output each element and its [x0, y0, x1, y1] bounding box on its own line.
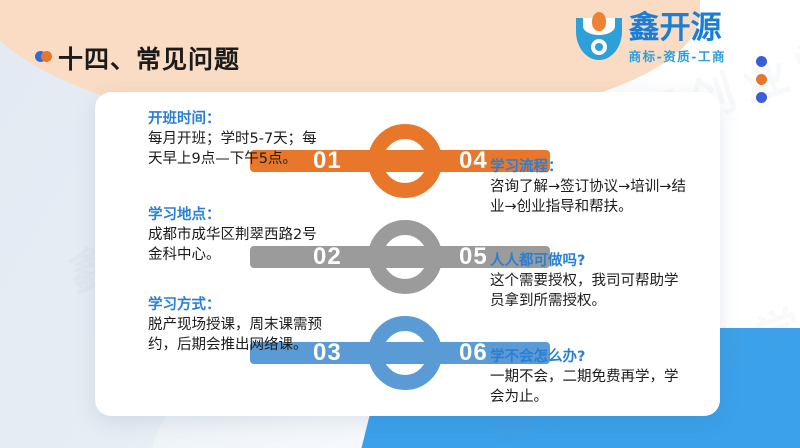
faq-body: 脱产现场授课，周末课需预约，后期会推出网络课。: [148, 316, 338, 355]
brand-logo: 鑫开源 商标-资质-工商: [576, 12, 726, 65]
faq-item-03: 学习方式： 脱产现场授课，周末课需预约，后期会推出网络课。: [148, 296, 338, 355]
logo-mark-icon: [576, 12, 622, 60]
logo-drop-shape-icon: [592, 12, 606, 31]
side-dot-1-icon: [756, 56, 767, 67]
faq-body: 咨询了解→签订协议→培训→结业→创业指导和帮扶。: [490, 178, 690, 217]
bullet-orange-dot-icon: [41, 51, 52, 62]
faq-body: 每月开班；学时5-7天；每天早上9点—下午5点。: [148, 130, 328, 169]
faq-item-06: 学不会怎么办? 一期不会，二期免费再学，学会为止。: [490, 348, 690, 407]
side-dot-3-icon: [756, 92, 767, 103]
title-bullet-icon: [35, 51, 53, 62]
faq-heading: 学习流程：: [490, 158, 690, 177]
logo-text-group: 鑫开源 商标-资质-工商: [629, 12, 726, 65]
slide-header: 十四、常见问题 鑫开源 商标-资质-工商: [0, 0, 800, 92]
logo-tagline: 商标-资质-工商: [629, 46, 726, 65]
faq-body: 一期不会，二期免费再学，学会为止。: [490, 368, 690, 407]
faq-body: 这个需要授权，我司可帮助学员拿到所需授权。: [490, 272, 690, 311]
faq-item-02: 学习地点： 成都市成华区荆翠西路2号金科中心。: [148, 206, 323, 265]
logo-ring-shape-icon: [591, 39, 607, 55]
faq-heading: 开班时间：: [148, 110, 328, 129]
faq-item-01: 开班时间： 每月开班；学时5-7天；每天早上9点—下午5点。: [148, 110, 328, 169]
faq-item-04: 学习流程： 咨询了解→签订协议→培训→结业→创业指导和帮扶。: [490, 158, 690, 217]
faq-body: 成都市成华区荆翠西路2号金科中心。: [148, 226, 323, 265]
faq-heading: 人人都可做吗?: [490, 252, 690, 271]
slide-canvas: 鑫开源创业学院 鑫开源创业学院 鑫开源创业学院 鑫开源创业学院 鑫开源创业学院 …: [0, 0, 800, 448]
faq-heading: 学习地点：: [148, 206, 323, 225]
side-dot-2-icon: [756, 74, 767, 85]
page-title: 十四、常见问题: [58, 40, 240, 76]
faq-heading: 学不会怎么办?: [490, 348, 690, 367]
side-dots-decoration: [756, 56, 767, 110]
logo-company-name: 鑫开源: [629, 12, 726, 45]
faq-item-05: 人人都可做吗? 这个需要授权，我司可帮助学员拿到所需授权。: [490, 252, 690, 311]
faq-heading: 学习方式：: [148, 296, 338, 315]
